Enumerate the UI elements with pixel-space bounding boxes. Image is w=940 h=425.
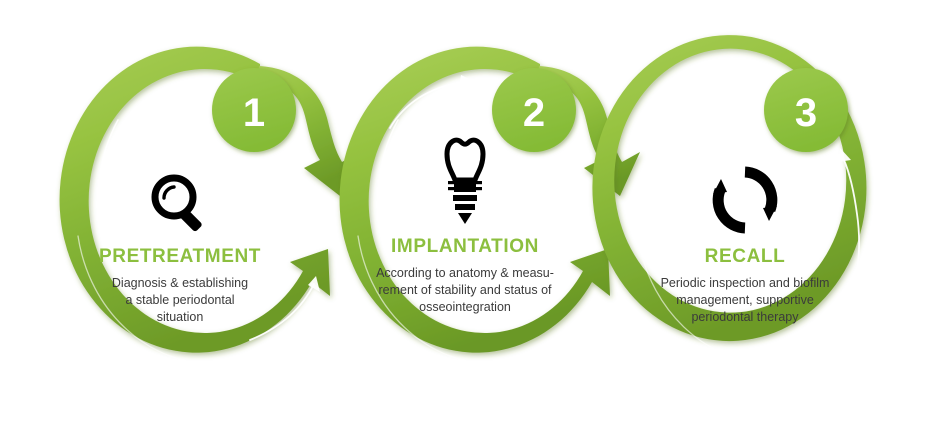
step-card-3: RECALL Periodic inspection and biofilm m… [630, 140, 860, 326]
step-1-desc-line-3: situation [79, 309, 281, 326]
step-1-desc-line-1: Diagnosis & establishing [79, 275, 281, 292]
step-1-title: PRETREATMENT [65, 246, 295, 268]
step-1-desc-line-2: a stable periodontal [79, 292, 281, 309]
step-card-1: PRETREATMENT Diagnosis & establishing a … [65, 140, 295, 326]
badge-3-number: 3 [795, 91, 817, 135]
step-2-desc-line-3: osseointegration [364, 299, 566, 316]
process-infographic: 1 2 3 [0, 0, 940, 425]
step-3-desc-line-1: Periodic inspection and biofilm [644, 275, 846, 292]
step-1-description: Diagnosis & establishing a stable period… [65, 275, 295, 326]
step-1-icon-wrap [65, 140, 295, 236]
ring-2-progress-arrowhead [459, 75, 474, 88]
badge-1-number: 1 [243, 91, 265, 135]
step-card-2: IMPLANTATION According to anatomy & meas… [350, 130, 580, 316]
recycle-refresh-icon [709, 164, 781, 236]
magnifier-icon [147, 170, 213, 236]
step-3-desc-line-2: management, supportive [644, 292, 846, 309]
step-3-desc-line-3: periodontal therapy [644, 309, 846, 326]
step-2-icon-wrap [350, 130, 580, 226]
step-3-description: Periodic inspection and biofilm manageme… [630, 275, 860, 326]
step-2-desc-line-1: According to anatomy & measu- [364, 265, 566, 282]
badge-2-number: 2 [523, 91, 545, 135]
step-2-title: IMPLANTATION [350, 236, 580, 258]
step-2-desc-line-2: rement of stability and status of [364, 282, 566, 299]
step-3-title: RECALL [630, 246, 860, 268]
step-3-icon-wrap [630, 140, 860, 236]
dental-implant-icon [437, 134, 493, 226]
step-2-description: According to anatomy & measu- rement of … [350, 265, 580, 316]
